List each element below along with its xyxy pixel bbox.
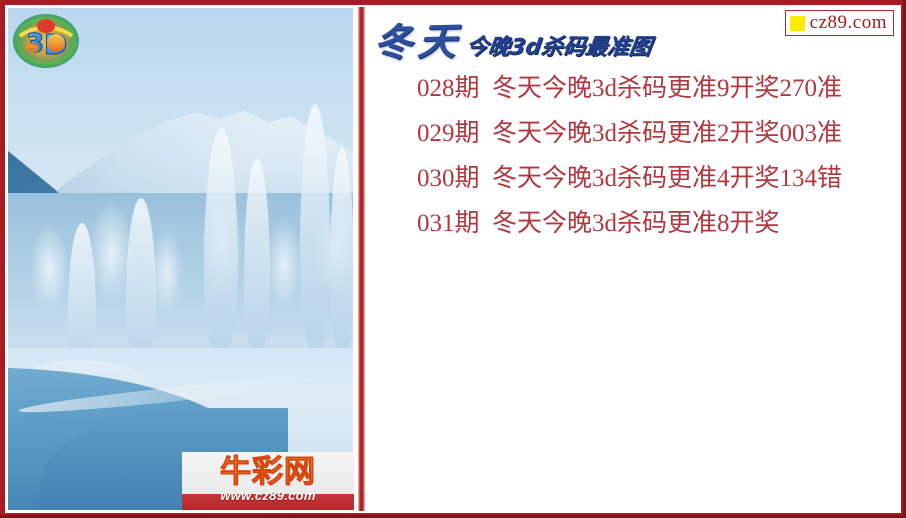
list-item-text: 030期 冬天今晚3d杀码更准4开奖134错 bbox=[417, 164, 842, 194]
watermark-brand: 牛彩网 bbox=[220, 455, 316, 489]
title-main-text: 冬天 bbox=[372, 21, 464, 63]
yellow-square-icon bbox=[790, 16, 805, 31]
list-item: 030期 冬天今晚3d杀码更准4开奖134错 bbox=[366, 156, 898, 201]
list-item: 028期 冬天今晚3d杀码更准9开奖270准 bbox=[366, 66, 898, 111]
winter-photo bbox=[8, 8, 353, 510]
title-sub-text: 今晚3d杀码最准图 bbox=[464, 36, 652, 60]
site-badge: cz89.com bbox=[785, 10, 894, 36]
list-item: 029期 冬天今晚3d杀码更准2开奖003准 bbox=[366, 111, 898, 156]
lottery-forecast-image: 3 D 牛彩网 www.cz89.com 冬天 今晚3d杀码最准图 cz89.c… bbox=[0, 0, 906, 518]
niucai-watermark: 牛彩网 www.cz89.com bbox=[182, 452, 354, 510]
photo-blue-tint bbox=[8, 8, 353, 510]
list-item-text: 031期 冬天今晚3d杀码更准8开奖 bbox=[417, 209, 780, 239]
forecast-content-panel: 冬天 今晚3d杀码最准图 cz89.com 028期 冬天今晚3d杀码更准9开奖… bbox=[366, 8, 898, 510]
vertical-divider bbox=[358, 7, 365, 511]
3d-lottery-logo-icon: 3 D bbox=[12, 12, 80, 70]
page-title: 冬天 今晚3d杀码最准图 bbox=[374, 14, 651, 62]
site-badge-text: cz89.com bbox=[810, 13, 887, 33]
list-item-text: 028期 冬天今晚3d杀码更准9开奖270准 bbox=[417, 74, 842, 104]
watermark-url: www.cz89.com bbox=[220, 489, 316, 503]
forecast-list: 028期 冬天今晚3d杀码更准9开奖270准 029期 冬天今晚3d杀码更准2开… bbox=[366, 66, 898, 246]
list-item: 031期 冬天今晚3d杀码更准8开奖 bbox=[366, 201, 898, 246]
list-item-text: 029期 冬天今晚3d杀码更准2开奖003准 bbox=[417, 119, 842, 149]
